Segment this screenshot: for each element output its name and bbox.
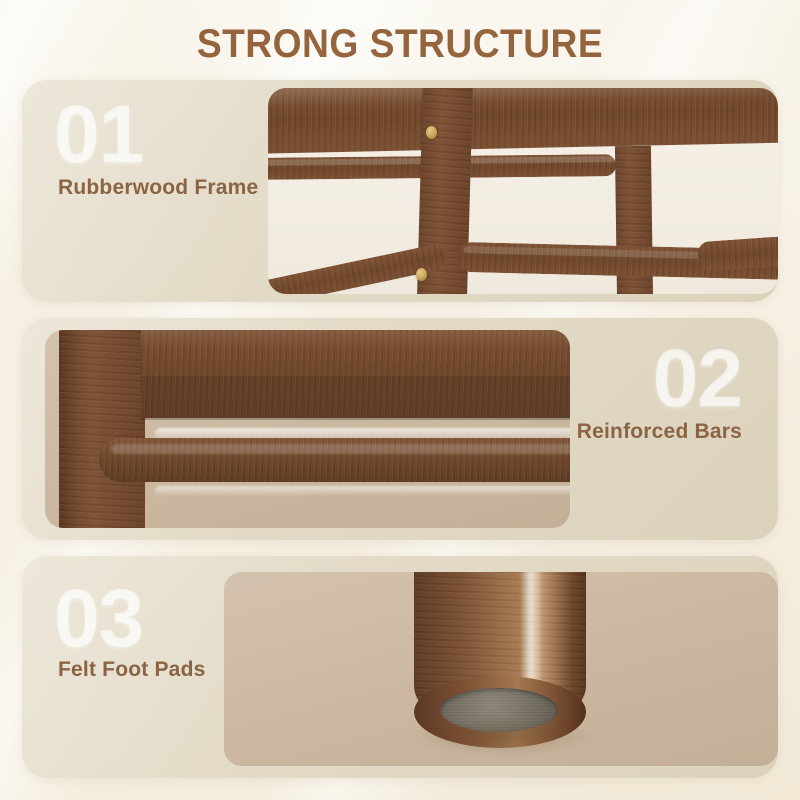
feature-number-02: 02 [653,338,742,420]
feature-photo-01 [268,88,778,294]
feature-label-01: Rubberwood Frame [58,176,258,200]
feature-number-01: 01 [54,94,143,176]
infographic-page: STRONG STRUCTURE 01 Rubberwood Frame [0,0,800,800]
brass-screw-icon [416,268,427,281]
felt-foot-pad [440,688,558,732]
feature-card-03: 03 Felt Foot Pads [22,556,778,778]
feature-label-02: Reinforced Bars [577,420,742,444]
brass-screw-icon [426,126,437,139]
feature-card-02: 02 Reinforced Bars [22,318,778,540]
page-title: STRONG STRUCTURE [28,22,772,67]
feature-card-01: 01 Rubberwood Frame [22,80,778,302]
feature-label-03: Felt Foot Pads [58,658,205,682]
feature-photo-03 [224,572,778,766]
feature-photo-02 [45,330,570,528]
feature-number-03: 03 [54,578,143,660]
